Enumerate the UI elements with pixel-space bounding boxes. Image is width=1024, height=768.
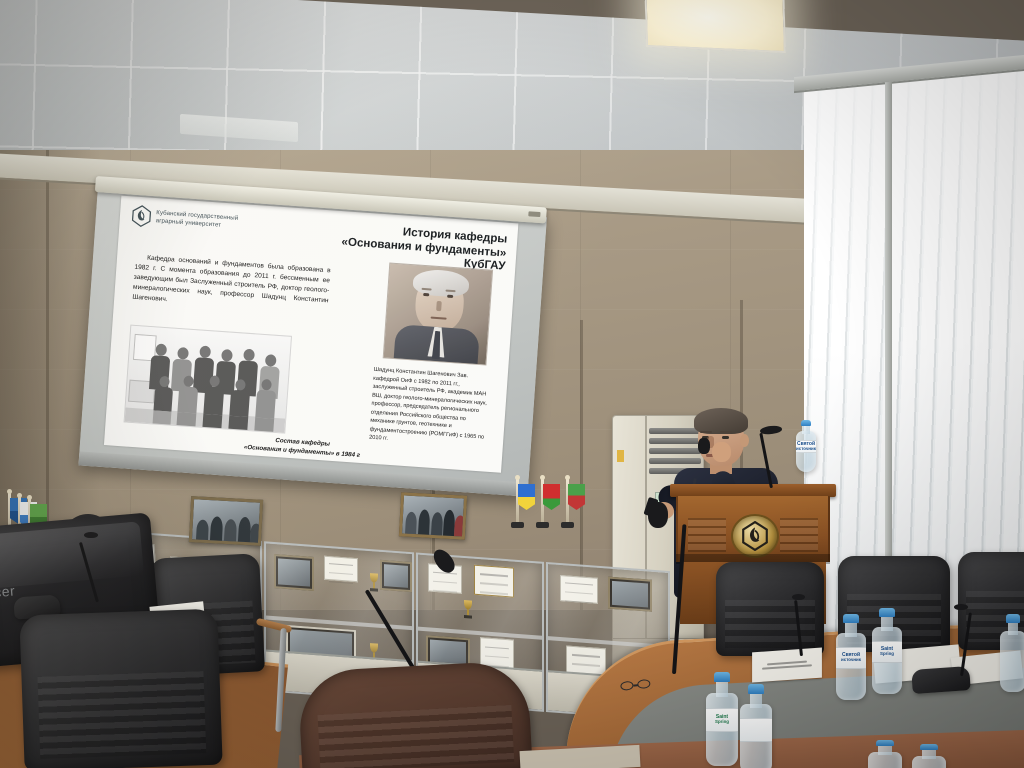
water-bottle[interactable]: Святой источник	[836, 614, 866, 700]
presenter-brow-right	[720, 431, 732, 433]
desk-microphone-head	[954, 604, 968, 610]
bottle-label: Святой источник	[836, 647, 866, 669]
handheld-microphone-head	[698, 438, 710, 454]
group-photo-person	[153, 376, 174, 426]
water-bottle[interactable]	[912, 744, 946, 768]
presenter-eye-right	[722, 436, 729, 439]
presenter-right-hand	[712, 442, 731, 462]
group-photo-person	[176, 375, 199, 427]
bottle-brand-line-2: источник	[796, 447, 816, 452]
university-logo-text: Кубанский государственный аграрный униве…	[155, 209, 238, 231]
portrait-photo	[383, 263, 493, 366]
conference-chair[interactable]	[716, 562, 824, 656]
flag-ukraine	[516, 478, 519, 524]
presenter-brow-left	[700, 431, 712, 433]
presenter-ear	[740, 434, 749, 447]
podium-front-panel	[676, 496, 830, 562]
bottle-brand-line-2: источник	[841, 658, 861, 663]
conference-chair-foreground[interactable]	[22, 612, 220, 768]
framed-photo-left	[189, 496, 263, 546]
water-bottle[interactable]	[1000, 614, 1024, 692]
bottle-label: Святой источник	[796, 440, 816, 454]
group-photo-person	[254, 379, 277, 433]
projection-screen: Кубанский государственный аграрный униве…	[78, 186, 546, 497]
monitor-brand-logo: acer	[0, 582, 16, 600]
university-logo: Кубанский государственный аграрный униве…	[131, 204, 238, 233]
portrait-eye-left	[423, 293, 429, 296]
water-bottle[interactable]: Saint Spring	[706, 672, 738, 766]
desk-microphone-head	[84, 532, 98, 538]
delegate-name-card	[752, 648, 822, 683]
framed-photo-right	[399, 492, 467, 539]
floor-microphone-head	[648, 502, 668, 528]
water-bottle[interactable]	[868, 740, 902, 768]
portrait-nose	[436, 301, 442, 311]
conference-chair-foreground[interactable]	[300, 666, 530, 768]
portrait-eye-right	[447, 295, 453, 298]
bottle-label: Saint Spring	[706, 708, 738, 732]
screen-pull-hook-icon	[528, 211, 540, 217]
slide-group-photo	[124, 325, 292, 434]
water-bottle[interactable]: Святой источник	[796, 420, 816, 472]
emblem-leaf-icon	[742, 521, 768, 551]
flag-group-ledge	[516, 478, 569, 524]
bottle-label: Saint Spring	[872, 641, 902, 663]
podium-fluting-right	[780, 518, 818, 552]
flag-belarus	[541, 478, 544, 524]
water-bottle[interactable]	[740, 684, 772, 768]
bottle-brand-line-2: Spring	[880, 652, 894, 657]
water-bottle[interactable]: Saint Spring	[872, 608, 902, 694]
ac-warning-sticker	[617, 450, 624, 462]
flag-green-red	[566, 478, 569, 524]
presentation-slide: Кубанский государственный аграрный униве…	[104, 196, 518, 473]
ceiling-light-panel	[644, 0, 786, 53]
group-photo-person	[202, 375, 225, 429]
podium-fluting-left	[688, 518, 726, 552]
conference-hall-scene: Кубанский государственный аграрный униве…	[0, 0, 1024, 768]
desk-microphone-head	[792, 594, 805, 600]
bottle-label	[740, 718, 772, 741]
podium-university-emblem-icon	[731, 514, 779, 558]
bottle-brand-line-2: Spring	[715, 720, 729, 725]
slide-paragraph: Кафедра оснований и фундаментов была обр…	[132, 253, 331, 316]
slide-bio-text: Шадунц Константин Шагенович Зав. кафедро…	[369, 366, 494, 451]
group-photo-person	[228, 379, 251, 431]
kuban-agrarian-leaf-logo-icon	[131, 204, 151, 227]
